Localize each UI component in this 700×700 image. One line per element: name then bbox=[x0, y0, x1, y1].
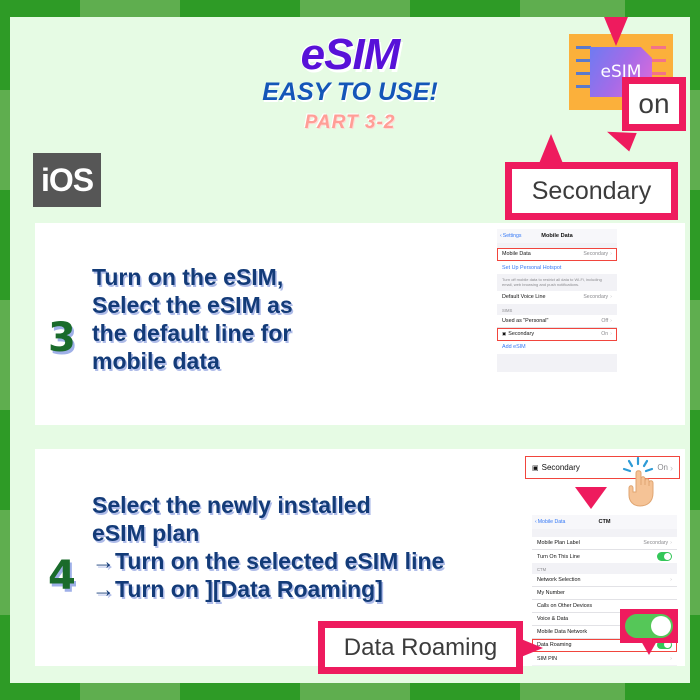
chevron-right-icon: › bbox=[610, 318, 612, 324]
row-mobile-plan-label[interactable]: Mobile Plan Label Secondary › bbox=[532, 537, 677, 550]
chevron-right-icon: › bbox=[670, 540, 672, 546]
nav-bar: ‹ Mobile Data CTM bbox=[532, 515, 677, 529]
toggle-turn-on-this-line[interactable] bbox=[657, 552, 672, 561]
back-button[interactable]: ‹ Settings bbox=[500, 233, 521, 239]
row-label: Add eSIM bbox=[502, 344, 526, 350]
back-button[interactable]: ‹ Mobile Data bbox=[535, 519, 565, 525]
platform-badge-ios: iOS bbox=[33, 153, 101, 207]
callout-pointer-secondary-bottom bbox=[538, 134, 564, 166]
step-4-number: 4 bbox=[48, 553, 76, 599]
row-value: Off bbox=[601, 318, 608, 324]
chevron-left-icon: ‹ bbox=[535, 519, 537, 525]
row-secondary[interactable]: ▣ Secondary On › bbox=[497, 328, 617, 341]
callout-on: on bbox=[622, 77, 686, 131]
back-label: Mobile Data bbox=[538, 519, 566, 525]
step-4-text: Select the newly installed eSIM plan →Tu… bbox=[92, 491, 444, 603]
chevron-right-icon: › bbox=[610, 251, 612, 257]
tap-hand-icon bbox=[622, 457, 670, 509]
ctm-group-1: Mobile Plan Label Secondary › Turn On Th… bbox=[532, 537, 677, 563]
callout-toggle-zoom bbox=[620, 609, 678, 643]
row-label: Turn On This Line bbox=[537, 554, 580, 560]
row-label: Mobile Data bbox=[502, 251, 531, 257]
row-default-voice-line[interactable]: Default Voice Line Secondary › bbox=[497, 291, 617, 304]
mobile-data-note: Turn off mobile data to restrict all dat… bbox=[497, 274, 617, 291]
row-network-selection[interactable]: Network Selection › bbox=[532, 574, 677, 587]
callout-secondary-bottom: Secondary bbox=[505, 162, 678, 220]
row-label: Network Selection bbox=[537, 577, 580, 583]
back-label: Settings bbox=[503, 233, 522, 239]
chevron-right-icon: › bbox=[610, 331, 612, 337]
part-label: PART 3-2 bbox=[10, 112, 690, 134]
row-label: Voice & Data bbox=[537, 616, 568, 622]
screen-title: CTM bbox=[598, 519, 610, 525]
row-label: Default Voice Line bbox=[502, 294, 545, 300]
infographic-canvas: eSIM EASY TO USE! PART 3-2 eSIM iOS 3 Tu… bbox=[10, 17, 690, 683]
row-used-as-personal[interactable]: Used as "Personal" Off › bbox=[497, 315, 617, 328]
row-value: Secondary bbox=[643, 540, 668, 546]
callout-pointer-toggle-zoom bbox=[641, 641, 657, 655]
nav-bar: ‹ Settings Mobile Data bbox=[497, 229, 617, 243]
settings-group-1: Mobile Data Secondary › Set Up Personal … bbox=[497, 248, 617, 274]
step-3-number: 3 bbox=[48, 315, 76, 361]
callout-pointer-secondary-top bbox=[602, 17, 630, 46]
chevron-left-icon: ‹ bbox=[500, 233, 502, 239]
toggle-data-roaming-zoom[interactable] bbox=[625, 614, 673, 638]
row-label: Secondary bbox=[508, 331, 534, 337]
callout-pointer-data-roaming bbox=[521, 639, 543, 657]
section-header-sims: SIMs bbox=[497, 304, 617, 315]
row-turn-on-this-line[interactable]: Turn On This Line bbox=[532, 550, 677, 563]
row-label: Calls on Other Devices bbox=[537, 603, 592, 609]
callout-data-roaming: Data Roaming bbox=[318, 621, 523, 674]
sim-card-icon: ▣ bbox=[532, 464, 539, 472]
chevron-right-icon: › bbox=[610, 294, 612, 300]
settings-group-2: Default Voice Line Secondary › bbox=[497, 291, 617, 304]
row-label: Mobile Data Network bbox=[537, 629, 587, 635]
chevron-right-icon: › bbox=[670, 463, 673, 473]
row-mobile-data[interactable]: Mobile Data Secondary › bbox=[497, 248, 617, 261]
settings-group-sims: Used as "Personal" Off › ▣ Secondary On … bbox=[497, 315, 617, 354]
section-header-ctm: CTM bbox=[532, 563, 677, 574]
row-label: Mobile Plan Label bbox=[537, 540, 580, 546]
row-label: Set Up Personal Hotspot bbox=[502, 265, 561, 271]
screen-title: Mobile Data bbox=[541, 233, 572, 239]
row-label: Secondary bbox=[542, 463, 580, 472]
chevron-right-icon: › bbox=[670, 656, 672, 662]
screenshot-mobile-data: ‹ Settings Mobile Data Mobile Data Secon… bbox=[497, 229, 617, 372]
row-set-up-personal-hotspot[interactable]: Set Up Personal Hotspot bbox=[497, 261, 617, 274]
row-label: My Number bbox=[537, 590, 565, 596]
step-3-text: Turn on the eSIM, Select the eSIM as the… bbox=[92, 263, 293, 375]
flow-arrow-down bbox=[575, 487, 607, 509]
row-value: Secondary bbox=[583, 294, 608, 300]
row-value: Secondary bbox=[583, 251, 608, 257]
sim-card-icon: ▣ bbox=[502, 331, 506, 337]
row-my-number[interactable]: My Number bbox=[532, 587, 677, 600]
chevron-right-icon: › bbox=[670, 577, 672, 583]
row-value: On bbox=[601, 331, 608, 337]
row-add-esim[interactable]: Add eSIM bbox=[497, 341, 617, 354]
row-label: Used as "Personal" bbox=[502, 318, 548, 324]
